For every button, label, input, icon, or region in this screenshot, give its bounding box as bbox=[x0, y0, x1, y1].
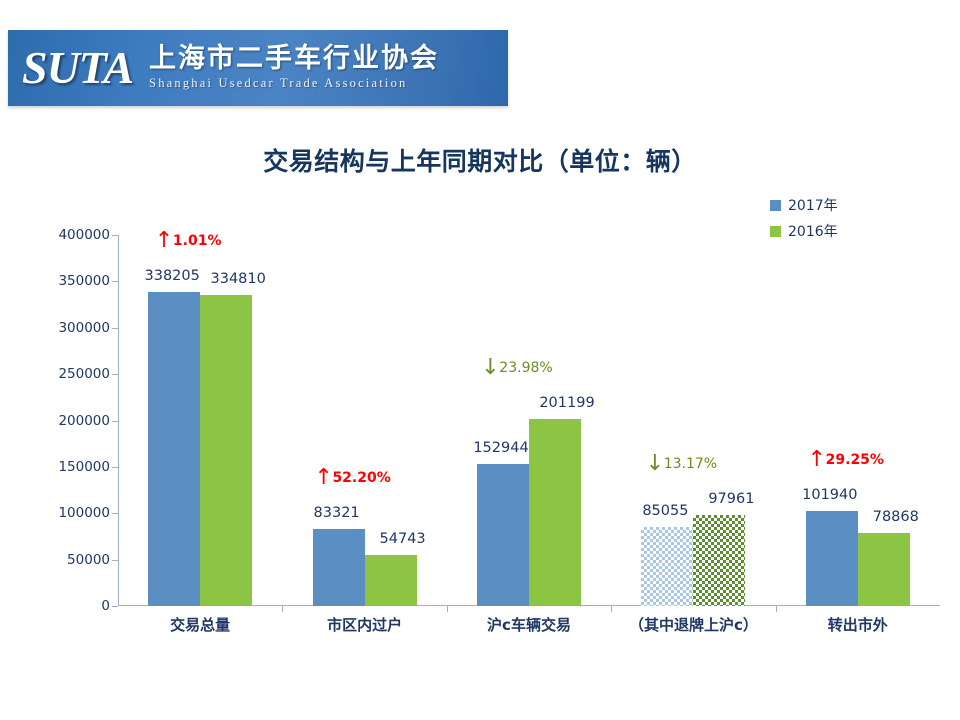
x-axis-tick bbox=[611, 606, 612, 612]
value-label-2016-0: 334810 bbox=[211, 271, 266, 287]
x-axis-category-labels: 交易总量市区内过户沪c车辆交易（其中退牌上沪c）转出市外 bbox=[118, 614, 940, 644]
delta-annotation-1: ↑52.20% bbox=[314, 467, 390, 489]
x-axis-tick bbox=[447, 606, 448, 612]
y-axis-tick-label: 400000 bbox=[58, 227, 110, 243]
category-label-3: （其中退牌上沪c） bbox=[629, 614, 758, 635]
y-axis-labels: 4000003500003000002500002000001500001000… bbox=[0, 235, 118, 606]
y-axis-tick bbox=[112, 235, 118, 236]
x-axis-tick bbox=[776, 606, 777, 612]
suta-banner: SUTA 上海市二手车行业协会 Shanghai Usedcar Trade A… bbox=[8, 30, 508, 106]
value-label-2017-1: 83321 bbox=[314, 505, 360, 521]
y-axis-tick bbox=[112, 421, 118, 422]
y-axis-tick bbox=[112, 374, 118, 375]
org-name-english: Shanghai Usedcar Trade Association bbox=[149, 76, 439, 91]
value-label-2017-0: 338205 bbox=[145, 268, 200, 284]
arrow-up-icon: ↑ bbox=[808, 449, 824, 471]
bar-2017-4 bbox=[806, 511, 858, 606]
delta-percent-2: 23.98% bbox=[499, 360, 552, 376]
y-axis-tick bbox=[112, 467, 118, 468]
arrow-down-icon: ↓ bbox=[646, 453, 662, 475]
arrow-down-icon: ↓ bbox=[481, 357, 497, 379]
category-label-1: 市区内过户 bbox=[327, 614, 402, 635]
value-label-2016-2: 201199 bbox=[539, 395, 594, 411]
org-name-chinese: 上海市二手车行业协会 bbox=[149, 45, 439, 73]
legend-label-2017: 2017年 bbox=[788, 195, 838, 215]
delta-annotation-0: ↑1.01% bbox=[155, 230, 222, 252]
y-axis-tick bbox=[112, 606, 118, 607]
arrow-up-icon: ↑ bbox=[155, 230, 171, 252]
y-axis-line bbox=[118, 235, 119, 606]
value-label-2017-3: 85055 bbox=[642, 503, 688, 519]
delta-percent-1: 52.20% bbox=[332, 470, 390, 486]
y-axis-tick-label: 200000 bbox=[58, 413, 110, 429]
x-axis-tick bbox=[282, 606, 283, 612]
chart-plot-area: 338205334810↑1.01%8332154743↑52.20%15294… bbox=[118, 235, 940, 606]
category-label-0: 交易总量 bbox=[170, 614, 230, 635]
bar-2017-1 bbox=[313, 529, 365, 606]
bar-2017-0 bbox=[148, 292, 200, 606]
delta-percent-3: 13.17% bbox=[664, 456, 717, 472]
y-axis-tick-label: 300000 bbox=[58, 320, 110, 336]
delta-percent-0: 1.01% bbox=[173, 233, 222, 249]
suta-logo-text: SUTA bbox=[22, 45, 133, 91]
y-axis-tick-label: 150000 bbox=[58, 459, 110, 475]
y-axis-tick bbox=[112, 281, 118, 282]
legend-item-2017: 2017年 bbox=[770, 192, 910, 218]
category-label-4: 转出市外 bbox=[828, 614, 888, 635]
value-label-2016-1: 54743 bbox=[380, 531, 426, 547]
chart-title: 交易结构与上年同期对比（单位：辆） bbox=[0, 142, 960, 178]
legend-swatch-2017 bbox=[770, 200, 781, 211]
value-label-2017-4: 101940 bbox=[802, 487, 857, 503]
delta-percent-4: 29.25% bbox=[826, 452, 884, 468]
y-axis-tick-label: 50000 bbox=[67, 552, 110, 568]
value-label-2017-2: 152944 bbox=[473, 440, 528, 456]
value-label-2016-3: 97961 bbox=[708, 491, 754, 507]
y-axis-tick-label: 100000 bbox=[58, 505, 110, 521]
y-axis-tick bbox=[112, 513, 118, 514]
bar-2017-3 bbox=[641, 527, 693, 606]
arrow-up-icon: ↑ bbox=[314, 467, 330, 489]
bar-2016-1 bbox=[365, 555, 417, 606]
delta-annotation-2: ↓23.98% bbox=[481, 357, 552, 379]
y-axis-tick bbox=[112, 328, 118, 329]
value-label-2016-4: 78868 bbox=[873, 509, 919, 525]
bar-2016-0 bbox=[200, 295, 252, 606]
bar-2016-4 bbox=[858, 533, 910, 606]
y-axis-tick-label: 250000 bbox=[58, 366, 110, 382]
category-label-2: 沪c车辆交易 bbox=[487, 614, 571, 635]
y-axis-tick-label: 350000 bbox=[58, 273, 110, 289]
delta-annotation-3: ↓13.17% bbox=[646, 453, 717, 475]
bar-2017-2 bbox=[477, 464, 529, 606]
y-axis-tick-label: 0 bbox=[101, 598, 110, 614]
y-axis-tick bbox=[112, 560, 118, 561]
bar-2016-3 bbox=[693, 515, 745, 606]
delta-annotation-4: ↑29.25% bbox=[808, 449, 884, 471]
bar-2016-2 bbox=[529, 419, 581, 606]
